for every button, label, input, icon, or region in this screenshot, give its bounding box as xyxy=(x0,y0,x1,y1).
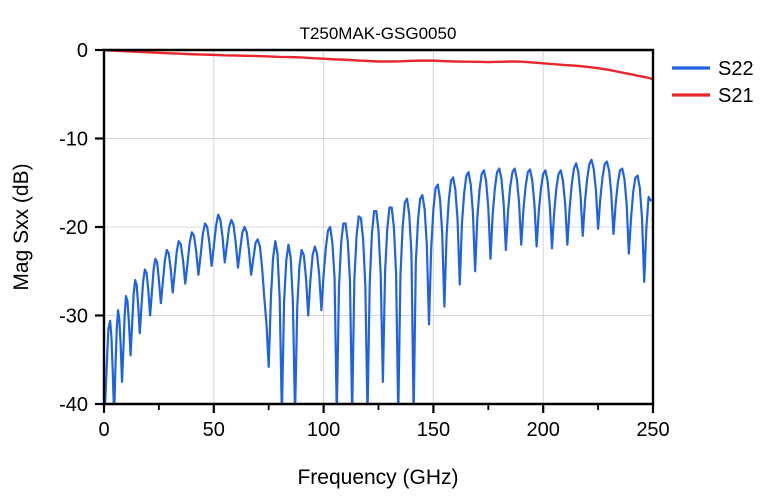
legend-label-s22: S22 xyxy=(718,58,754,80)
chart-title: T250MAK-GSG0050 xyxy=(300,24,457,43)
x-tick-label: 0 xyxy=(98,419,109,441)
legend-label-s21: S21 xyxy=(718,85,754,107)
y-tick-label: 0 xyxy=(77,40,88,62)
trace-s21 xyxy=(104,50,653,79)
x-tick-labels: 050100150200250 xyxy=(98,419,669,441)
axis-ticks xyxy=(95,50,653,413)
y-tick-label: -30 xyxy=(59,306,88,328)
x-tick-label: 150 xyxy=(417,419,450,441)
x-tick-label: 200 xyxy=(527,419,560,441)
trace-s22 xyxy=(105,160,651,415)
x-tick-label: 100 xyxy=(307,419,340,441)
x-tick-label: 250 xyxy=(636,419,669,441)
x-axis-label: Frequency (GHz) xyxy=(297,466,458,489)
y-tick-labels: 0-10-20-30-40 xyxy=(59,40,88,416)
chart-figure: 050100150200250 0-10-20-30-40 T250MAK-GS… xyxy=(0,0,770,500)
y-tick-label: -20 xyxy=(59,217,88,239)
y-axis-label: Mag Sxx (dB) xyxy=(10,163,33,290)
y-tick-label: -40 xyxy=(59,394,88,416)
y-tick-label: -10 xyxy=(59,129,88,151)
sparameter-line-chart: 050100150200250 0-10-20-30-40 T250MAK-GS… xyxy=(0,0,770,500)
data-traces xyxy=(104,50,653,414)
x-tick-label: 50 xyxy=(203,419,225,441)
chart-legend: S22S21 xyxy=(672,58,754,107)
